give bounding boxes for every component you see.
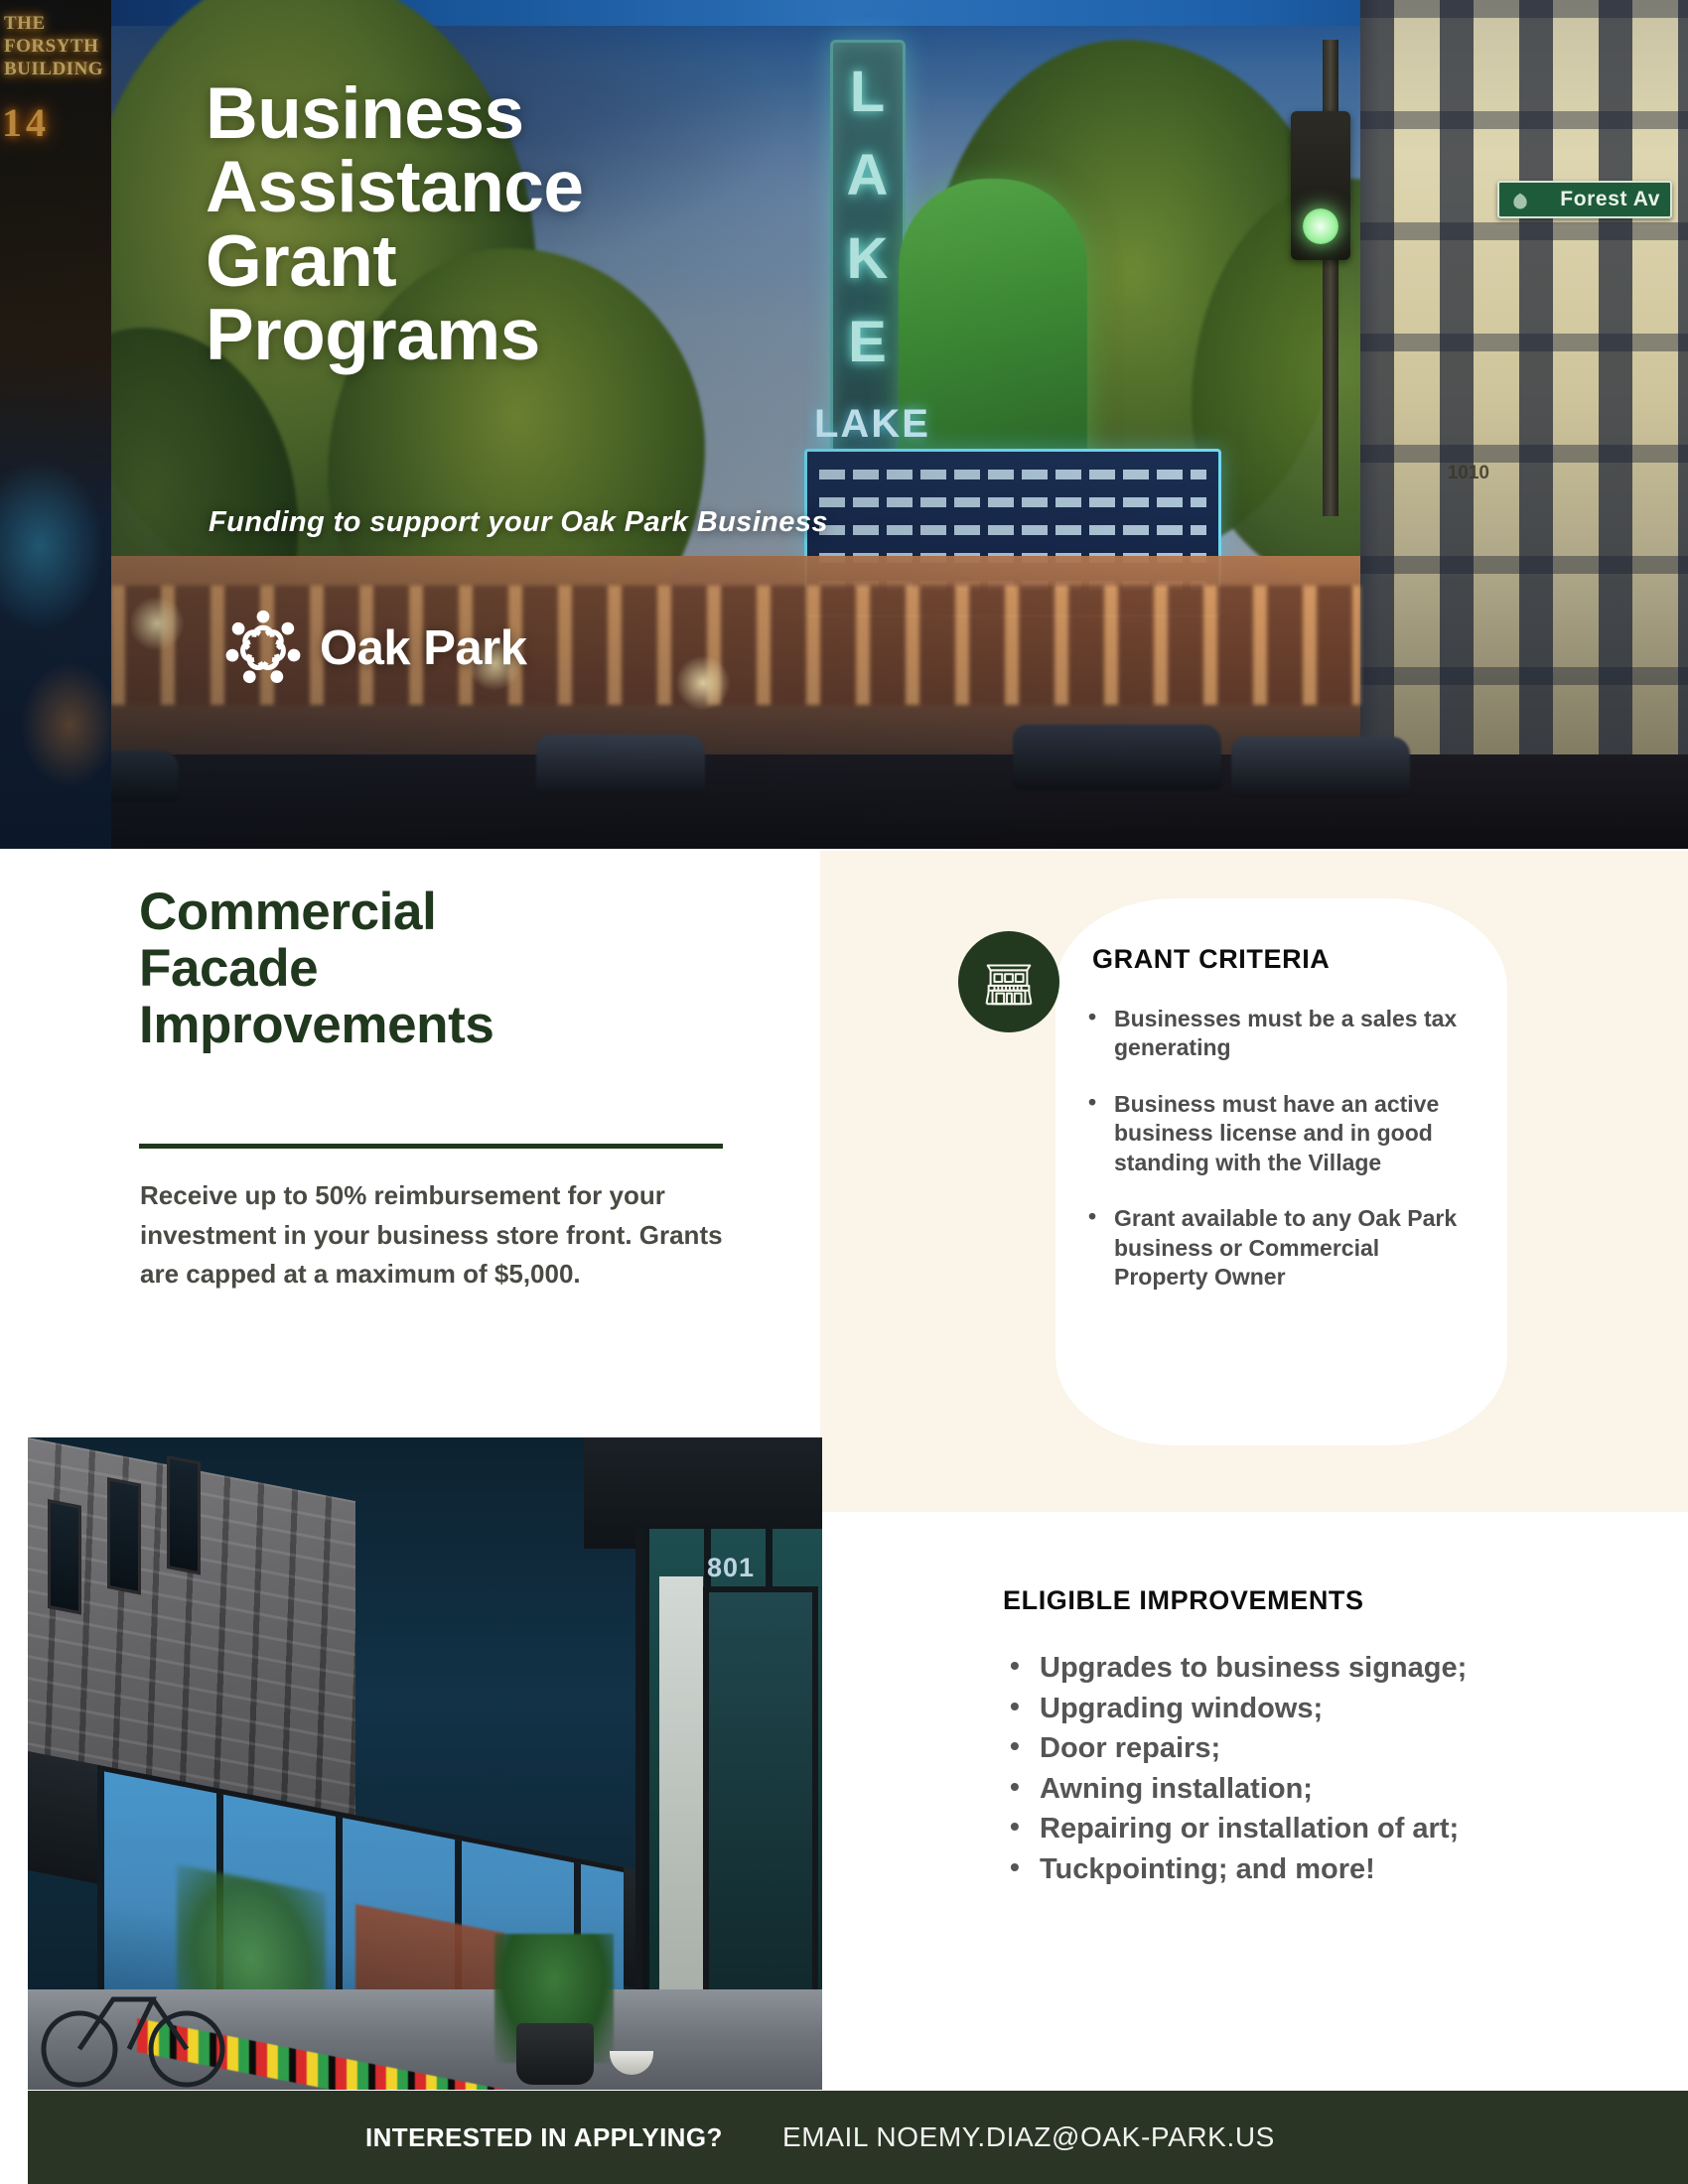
eligible-improvements-heading: ELIGIBLE IMPROVEMENTS xyxy=(1003,1585,1364,1616)
section-heading: Commercial Facade Improvements xyxy=(139,884,655,1054)
grant-criteria-item: Business must have an active business li… xyxy=(1082,1090,1479,1177)
flyer-page: LAKE LAKE Forest Av 1010 xyxy=(0,0,1688,2184)
grant-criteria-heading: GRANT CRITERIA xyxy=(1092,944,1330,975)
page-title: Business Assistance Grant Programs xyxy=(206,77,861,373)
eligible-improvements-list: Upgrades to business signage; Upgrading … xyxy=(998,1649,1484,1890)
page-title-line: Assistance xyxy=(206,151,861,224)
page-title-line: Grant xyxy=(206,225,861,299)
oak-park-logo-text: Oak Park xyxy=(320,620,527,676)
grant-criteria-item: Businesses must be a sales tax generatin… xyxy=(1082,1005,1479,1063)
section-heading-line: Commercial xyxy=(139,884,655,940)
storefront-photo: 801 xyxy=(28,1437,822,2090)
photo-upper-window xyxy=(167,1455,201,1575)
page-subtitle: Funding to support your Oak Park Busines… xyxy=(209,506,1102,539)
hero-banner: LAKE LAKE Forest Av 1010 xyxy=(0,0,1688,849)
eligible-improvement-item: Upgrades to business signage; xyxy=(998,1649,1484,1688)
eligible-improvement-item: Awning installation; xyxy=(998,1770,1484,1809)
eligible-improvement-item: Tuckpointing; and more! xyxy=(998,1850,1484,1889)
footer-email-link[interactable]: EMAIL NOEMY.DIAZ@OAK-PARK.US xyxy=(782,2121,1275,2153)
section-divider xyxy=(139,1144,723,1149)
photo-upper-window xyxy=(48,1499,81,1615)
storefront-building-glyph xyxy=(978,951,1040,1013)
footer-bar: INTERESTED IN APPLYING? EMAIL NOEMY.DIAZ… xyxy=(28,2091,1688,2184)
photo-white-column xyxy=(659,1576,703,1993)
grant-criteria-item: Grant available to any Oak Park business… xyxy=(1082,1204,1479,1292)
oak-park-sunburst-people-logo-icon xyxy=(220,606,306,691)
section-body-text: Receive up to 50% reimbursement for your… xyxy=(140,1176,726,1295)
section-heading-line: Facade xyxy=(139,940,655,997)
photo-address-number: 801 xyxy=(671,1553,790,1596)
oak-park-logo: Oak Park xyxy=(220,606,527,691)
storefront-building-icon xyxy=(958,931,1059,1032)
grant-criteria-list: Businesses must be a sales tax generatin… xyxy=(1082,1005,1479,1319)
page-title-line: Programs xyxy=(206,299,861,372)
photo-bicycle xyxy=(38,1954,226,2090)
eligible-improvement-item: Door repairs; xyxy=(998,1729,1484,1768)
page-title-line: Business xyxy=(206,77,861,151)
footer-question: INTERESTED IN APPLYING? xyxy=(365,2122,723,2153)
photo-planter-pot xyxy=(516,2023,594,2085)
photo-entry-door xyxy=(703,1586,818,2053)
photo-upper-window xyxy=(107,1477,141,1595)
eligible-improvement-item: Upgrading windows; xyxy=(998,1690,1484,1728)
section-heading-line: Improvements xyxy=(139,997,655,1053)
eligible-improvement-item: Repairing or installation of art; xyxy=(998,1810,1484,1848)
